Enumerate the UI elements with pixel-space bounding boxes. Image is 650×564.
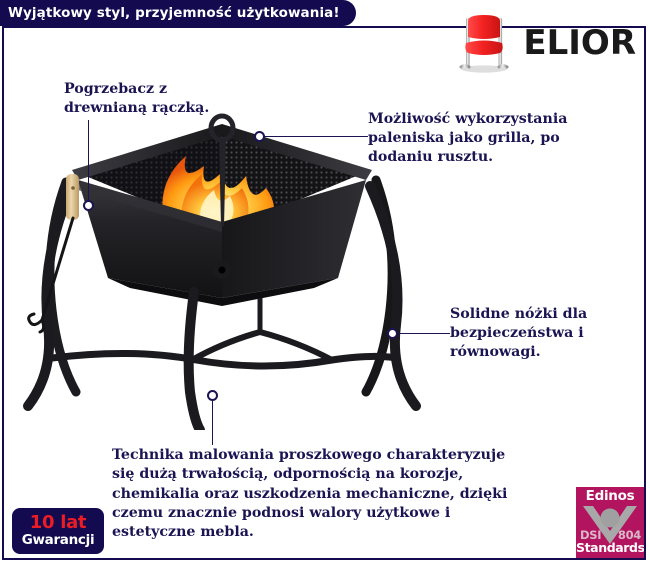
edinos-title: Edinos (576, 488, 644, 504)
annotation-poker: Pogrzebacz z drewnianą rączką. (64, 80, 254, 118)
leader-line-grill (264, 136, 368, 137)
warranty-label: Gwarancji (22, 532, 95, 549)
callout-dot-icon (207, 390, 218, 401)
headline-banner: Wyjątkowy styl, przyjemność użytkowania! (0, 0, 356, 26)
edinos-subtitle: Standards (576, 540, 644, 555)
headline-text: Wyjątkowy styl, przyjemność użytkowania! (8, 5, 340, 21)
callout-dot-icon (387, 328, 398, 339)
brand-name: ELIOR (523, 26, 636, 60)
annotation-legs: Solidne nóżki dla bezpieczeństwa i równo… (450, 305, 635, 362)
red-chair-icon (455, 12, 513, 74)
warranty-badge: 10 lat Gwarancji (12, 508, 104, 554)
leader-line-poker (88, 120, 89, 204)
callout-dot-icon (254, 131, 265, 142)
edinos-badge: Edinos DSI 804 Standards (576, 487, 644, 558)
callout-dot-icon (83, 200, 94, 211)
brand-logo: ELIOR (455, 12, 636, 74)
infographic-page: Wyjątkowy styl, przyjemność użytkowania! (0, 0, 650, 564)
annotation-grill: Możliwość wykorzystania paleniska jako g… (368, 110, 583, 167)
leader-line-paint (212, 395, 213, 445)
warranty-years: 10 lat (30, 514, 86, 532)
leader-line-legs (396, 333, 450, 334)
paint-description: Technika malowania proszkowego charakter… (112, 446, 532, 543)
